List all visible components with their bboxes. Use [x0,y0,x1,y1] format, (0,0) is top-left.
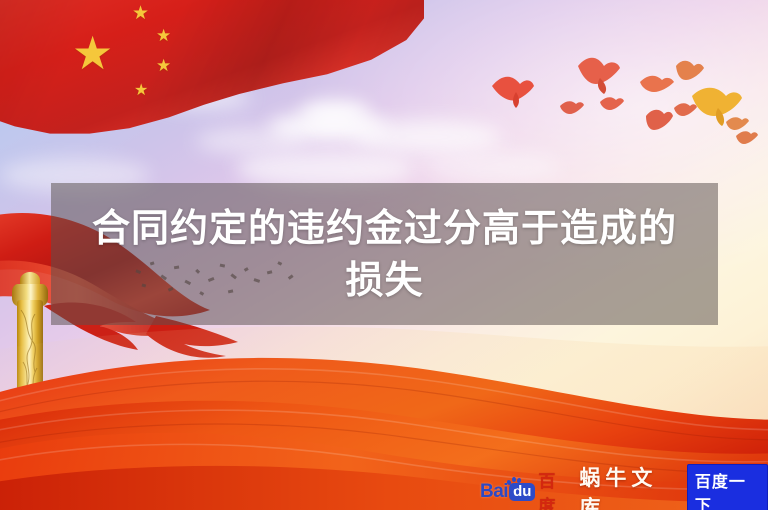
flying-dove [736,131,758,144]
chinese-national-flag: ★ ★ ★ ★ ★ [0,0,424,166]
site-name-label: 蜗牛文库 [579,462,679,510]
flying-dove [600,97,624,110]
flying-birds-flock [480,44,768,164]
baidu-paw-icon [506,476,524,488]
gold-huabiao-pillar [12,272,48,462]
flying-dove [646,110,673,130]
baidu-logo[interactable]: Bai du 百度 [480,480,568,504]
poster-canvas: ★ ★ ★ ★ ★ [0,0,768,510]
flying-dove [676,61,704,80]
flying-dove [726,117,749,130]
page-title: 合同约定的违约金过分高于造成的损失 [75,202,695,306]
baidu-logo-chinese: 百度 [538,467,568,510]
flying-dove [560,101,584,114]
watermark-bar: Bai du 百度 蜗牛文库 百度一下 [480,478,768,506]
flying-dove [492,77,534,108]
title-overlay-box: 合同约定的违约金过分高于造成的损失 [51,183,718,325]
flag-star-small-3: ★ [156,58,171,75]
flag-star-small-4: ★ [134,82,148,98]
flying-dove [674,103,697,116]
flag-star-small-1: ★ [132,4,149,23]
baidu-logo-bai: Bai [480,481,508,503]
flag-star-small-2: ★ [156,28,171,45]
flying-dove [578,58,620,94]
baidu-search-button[interactable]: 百度一下 [687,464,768,510]
flag-star-large: ★ [72,30,113,76]
flying-dove [640,76,674,92]
